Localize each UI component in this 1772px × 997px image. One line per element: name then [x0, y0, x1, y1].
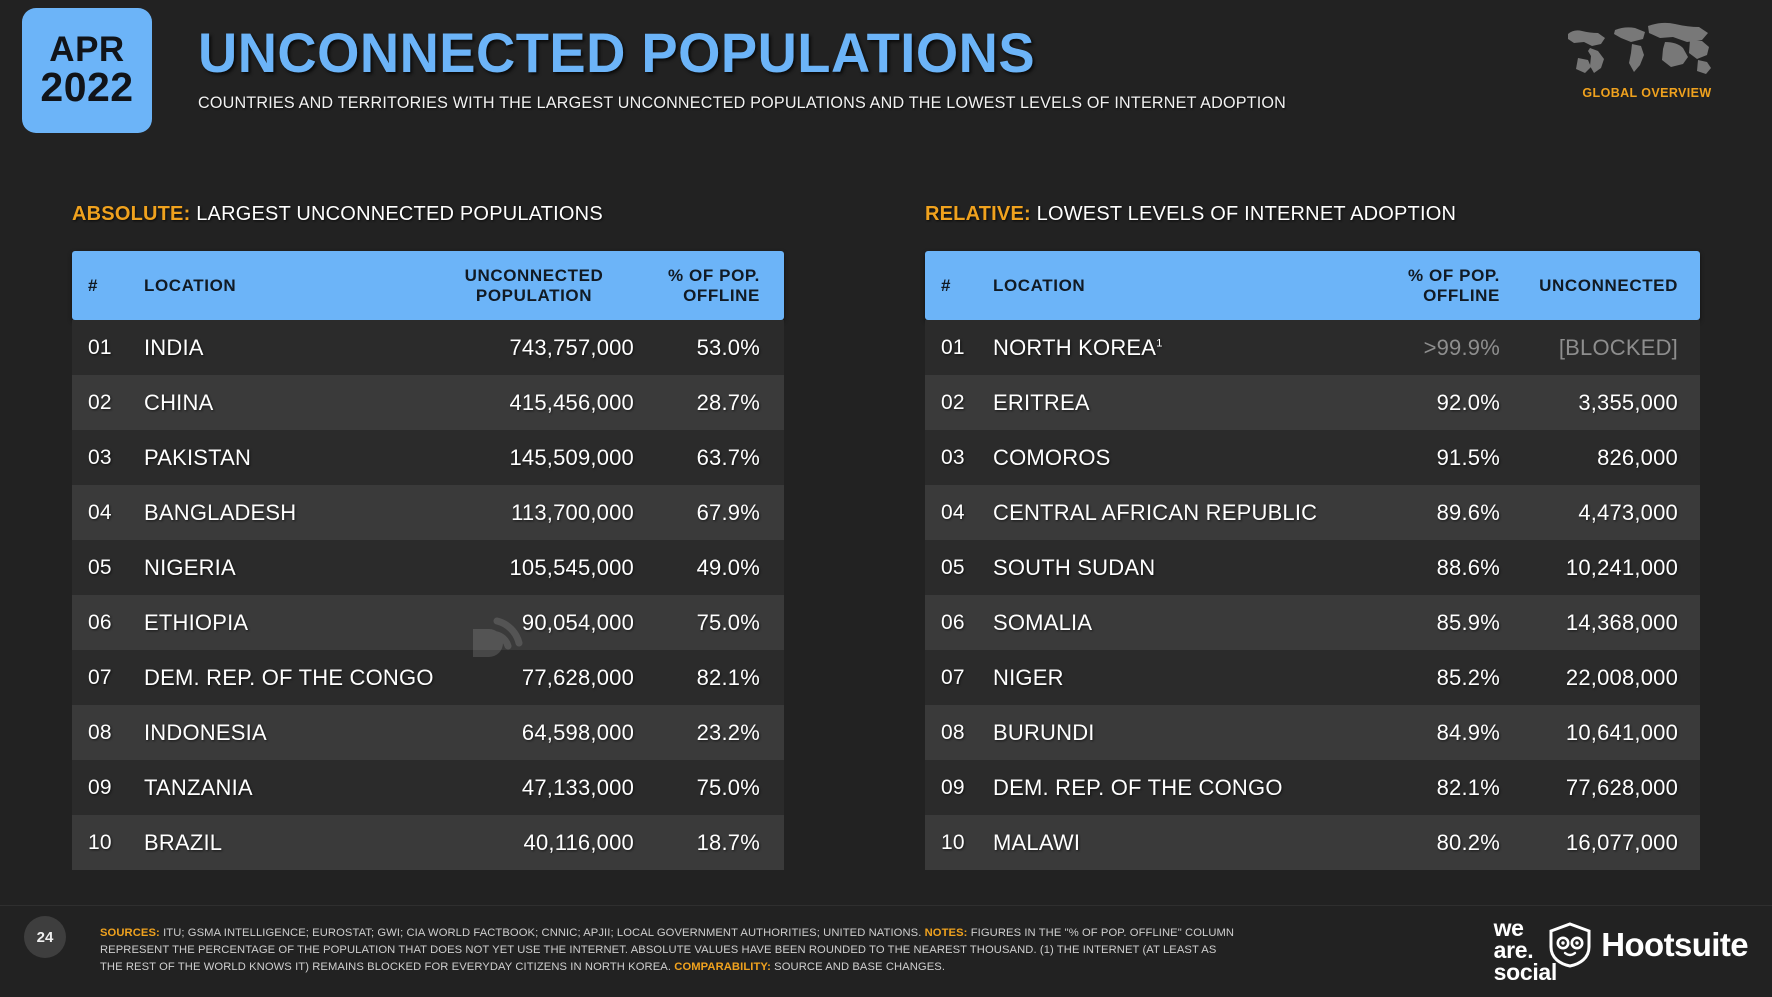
row-rank: 05 [72, 556, 144, 580]
row-unconnected-population: 743,757,000 [434, 335, 634, 361]
table-row: 09TANZANIA47,133,00075.0% [72, 760, 784, 815]
relative-section-label: RELATIVE: LOWEST LEVELS OF INTERNET ADOP… [925, 203, 1456, 226]
row-rank: 03 [72, 446, 144, 470]
header-pct-offline-l2: OFFLINE [1325, 286, 1500, 306]
table-row: 02CHINA415,456,00028.7% [72, 375, 784, 430]
world-map-icon [1560, 18, 1735, 80]
row-pct-offline: 85.9% [1325, 610, 1500, 636]
row-location: NORTH KOREA1 [993, 335, 1325, 361]
row-rank: 08 [72, 721, 144, 745]
header-location: LOCATION [144, 276, 434, 296]
row-location: SOMALIA [993, 610, 1325, 636]
row-unconnected: 4,473,000 [1500, 500, 1700, 526]
row-rank: 09 [72, 776, 144, 800]
row-location: COMOROS [993, 445, 1325, 471]
header-location: LOCATION [993, 276, 1325, 296]
row-pct-offline: >99.9% [1325, 335, 1500, 361]
row-unconnected-population: 90,054,000 [434, 610, 634, 636]
row-unconnected-population: 47,133,000 [434, 775, 634, 801]
row-unconnected-population: 105,545,000 [434, 555, 634, 581]
row-unconnected-population: 64,598,000 [434, 720, 634, 746]
header-pct-offline: % OF POP. OFFLINE [634, 266, 784, 305]
row-pct-offline: 82.1% [1325, 775, 1500, 801]
slide-root: APR 2022 UNCONNECTED POPULATIONS COUNTRI… [0, 0, 1772, 997]
row-rank: 10 [72, 831, 144, 855]
row-pct-offline: 18.7% [634, 830, 784, 856]
row-unconnected-population: 77,628,000 [434, 665, 634, 691]
row-unconnected: 16,077,000 [1500, 830, 1700, 856]
row-rank: 05 [925, 556, 993, 580]
row-pct-offline: 84.9% [1325, 720, 1500, 746]
sources-value: ITU; GSMA INTELLIGENCE; EUROSTAT; GWI; C… [160, 927, 925, 939]
table-row: 06SOMALIA85.9%14,368,000 [925, 595, 1700, 650]
hootsuite-owl-icon [1548, 922, 1592, 968]
row-unconnected: 14,368,000 [1500, 610, 1700, 636]
row-location: ETHIOPIA [144, 610, 434, 636]
header-rank: # [72, 276, 144, 296]
row-unconnected: 10,641,000 [1500, 720, 1700, 746]
world-map-badge: GLOBAL OVERVIEW [1552, 18, 1742, 100]
header-pct-offline: % OF POP. OFFLINE [1325, 266, 1500, 305]
row-unconnected-population: 113,700,000 [434, 500, 634, 526]
row-pct-offline: 88.6% [1325, 555, 1500, 581]
table-row: 07NIGER85.2%22,008,000 [925, 650, 1700, 705]
row-location: INDIA [144, 335, 434, 361]
row-rank: 02 [72, 391, 144, 415]
sources-key: SOURCES: [100, 927, 160, 939]
row-pct-offline: 53.0% [634, 335, 784, 361]
row-unconnected: [BLOCKED] [1500, 335, 1700, 361]
row-location: DEM. REP. OF THE CONGO [144, 665, 434, 691]
row-location: BANGLADESH [144, 500, 434, 526]
row-pct-offline: 23.2% [634, 720, 784, 746]
table-row: 02ERITREA92.0%3,355,000 [925, 375, 1700, 430]
row-rank: 07 [925, 666, 993, 690]
row-pct-offline: 75.0% [634, 775, 784, 801]
row-unconnected: 3,355,000 [1500, 390, 1700, 416]
header-unconnected-population-l1: UNCONNECTED [434, 266, 634, 286]
table-row: 01NORTH KOREA1>99.9%[BLOCKED] [925, 320, 1700, 375]
row-pct-offline: 63.7% [634, 445, 784, 471]
row-unconnected-population: 415,456,000 [434, 390, 634, 416]
row-pct-offline: 91.5% [1325, 445, 1500, 471]
row-unconnected: 77,628,000 [1500, 775, 1700, 801]
header-unconnected-population-l2: POPULATION [434, 286, 634, 306]
relative-table: # LOCATION % OF POP. OFFLINE UNCONNECTED… [925, 251, 1700, 870]
row-rank: 08 [925, 721, 993, 745]
table-row: 01INDIA743,757,00053.0% [72, 320, 784, 375]
row-rank: 01 [72, 336, 144, 360]
title-block: UNCONNECTED POPULATIONS COUNTRIES AND TE… [198, 25, 1343, 113]
row-location: BURUNDI [993, 720, 1325, 746]
row-pct-offline: 28.7% [634, 390, 784, 416]
row-unconnected: 10,241,000 [1500, 555, 1700, 581]
row-pct-offline: 85.2% [1325, 665, 1500, 691]
absolute-table-body: 01INDIA743,757,00053.0%02CHINA415,456,00… [72, 320, 784, 870]
date-month: APR [49, 32, 124, 68]
relative-label-value: LOWEST LEVELS OF INTERNET ADOPTION [1031, 203, 1456, 225]
row-pct-offline: 82.1% [634, 665, 784, 691]
row-rank: 09 [925, 776, 993, 800]
row-location: PAKISTAN [144, 445, 434, 471]
row-unconnected: 22,008,000 [1500, 665, 1700, 691]
table-row: 05NIGERIA105,545,00049.0% [72, 540, 784, 595]
global-overview-label: GLOBAL OVERVIEW [1552, 86, 1742, 100]
table-header-row: # LOCATION % OF POP. OFFLINE UNCONNECTED [925, 251, 1700, 320]
table-header-row: # LOCATION UNCONNECTED POPULATION % OF P… [72, 251, 784, 320]
row-location: CHINA [144, 390, 434, 416]
row-unconnected-population: 40,116,000 [434, 830, 634, 856]
row-rank: 04 [925, 501, 993, 525]
table-row: 04CENTRAL AFRICAN REPUBLIC89.6%4,473,000 [925, 485, 1700, 540]
table-row: 08BURUNDI84.9%10,641,000 [925, 705, 1700, 760]
header-pct-offline-l2: OFFLINE [634, 286, 760, 306]
notes-key: NOTES: [925, 927, 968, 939]
row-rank: 10 [925, 831, 993, 855]
absolute-table: # LOCATION UNCONNECTED POPULATION % OF P… [72, 251, 784, 870]
relative-table-body: 01NORTH KOREA1>99.9%[BLOCKED]02ERITREA92… [925, 320, 1700, 870]
row-pct-offline: 92.0% [1325, 390, 1500, 416]
row-pct-offline: 75.0% [634, 610, 784, 636]
hootsuite-wordmark: Hootsuite [1601, 926, 1748, 964]
table-row: 06ETHIOPIA90,054,00075.0% [72, 595, 784, 650]
row-pct-offline: 49.0% [634, 555, 784, 581]
slide-header: APR 2022 UNCONNECTED POPULATIONS COUNTRI… [0, 0, 1772, 160]
row-pct-offline: 89.6% [1325, 500, 1500, 526]
table-row: 04BANGLADESH113,700,00067.9% [72, 485, 784, 540]
row-location: INDONESIA [144, 720, 434, 746]
relative-label-key: RELATIVE: [925, 203, 1031, 225]
header-unconnected-population: UNCONNECTED POPULATION [434, 266, 634, 305]
table-row: 08INDONESIA64,598,00023.2% [72, 705, 784, 760]
table-row: 09DEM. REP. OF THE CONGO82.1%77,628,000 [925, 760, 1700, 815]
row-rank: 07 [72, 666, 144, 690]
table-row: 10MALAWI80.2%16,077,000 [925, 815, 1700, 870]
absolute-label-key: ABSOLUTE: [72, 203, 190, 225]
absolute-section-label: ABSOLUTE: LARGEST UNCONNECTED POPULATION… [72, 203, 603, 226]
row-unconnected-population: 145,509,000 [434, 445, 634, 471]
footnotes: SOURCES: ITU; GSMA INTELLIGENCE; EUROSTA… [100, 925, 1235, 976]
table-row: 03PAKISTAN145,509,00063.7% [72, 430, 784, 485]
page-subtitle: COUNTRIES AND TERRITORIES WITH THE LARGE… [198, 93, 1286, 113]
header-rank: # [925, 276, 993, 296]
row-pct-offline: 80.2% [1325, 830, 1500, 856]
row-location: ERITREA [993, 390, 1325, 416]
comparability-key: COMPARABILITY: [674, 961, 771, 973]
date-year: 2022 [40, 67, 133, 109]
row-location: CENTRAL AFRICAN REPUBLIC [993, 500, 1325, 526]
row-rank: 06 [925, 611, 993, 635]
hootsuite-logo: Hootsuite [1548, 922, 1748, 968]
row-rank: 01 [925, 336, 993, 360]
row-location: TANZANIA [144, 775, 434, 801]
row-location: NIGERIA [144, 555, 434, 581]
row-rank: 06 [72, 611, 144, 635]
row-rank: 03 [925, 446, 993, 470]
table-row: 10BRAZIL40,116,00018.7% [72, 815, 784, 870]
table-row: 05SOUTH SUDAN88.6%10,241,000 [925, 540, 1700, 595]
table-row: 07DEM. REP. OF THE CONGO77,628,00082.1% [72, 650, 784, 705]
row-location: DEM. REP. OF THE CONGO [993, 775, 1325, 801]
row-location: BRAZIL [144, 830, 434, 856]
page-title: UNCONNECTED POPULATIONS [198, 25, 1309, 81]
row-rank: 02 [925, 391, 993, 415]
table-row: 03COMOROS91.5%826,000 [925, 430, 1700, 485]
row-location: NIGER [993, 665, 1325, 691]
date-badge: APR 2022 [22, 8, 152, 133]
header-pct-offline-l1: % OF POP. [1325, 266, 1500, 286]
row-location: SOUTH SUDAN [993, 555, 1325, 581]
row-pct-offline: 67.9% [634, 500, 784, 526]
page-number: 24 [24, 916, 66, 958]
row-location: MALAWI [993, 830, 1325, 856]
footer-divider [0, 905, 1772, 906]
comparability-value: SOURCE AND BASE CHANGES. [771, 961, 945, 973]
header-pct-offline-l1: % OF POP. [634, 266, 760, 286]
absolute-label-value: LARGEST UNCONNECTED POPULATIONS [190, 203, 602, 225]
header-unconnected: UNCONNECTED [1500, 276, 1700, 296]
row-unconnected: 826,000 [1500, 445, 1700, 471]
row-rank: 04 [72, 501, 144, 525]
